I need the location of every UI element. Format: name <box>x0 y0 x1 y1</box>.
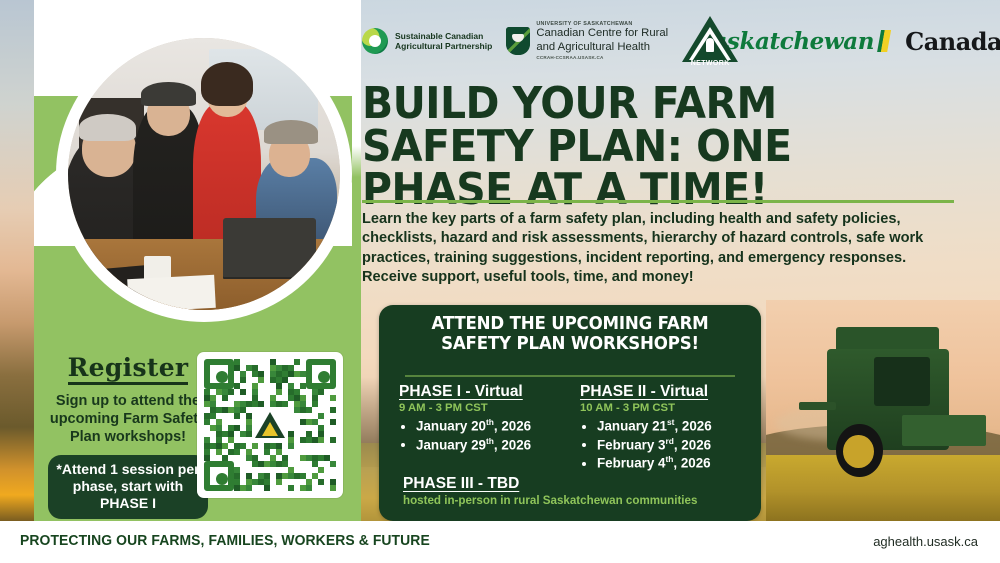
register-subtitle: Sign up to attend the upcoming Farm Safe… <box>48 393 208 446</box>
phase-three-heading: PHASE III - TBD <box>403 475 733 492</box>
phase-column: PHASE II - Virtual10 AM - 3 PM CSTJanuar… <box>580 383 747 472</box>
phase-date: February 3rd, 2026 <box>597 436 747 454</box>
card-divider <box>405 375 735 377</box>
phase-date-list: January 21st, 2026February 3rd, 2026Febr… <box>580 417 747 472</box>
canadian-centre-for-rural-and-agricultural-health-logo: UNIVERSITY OF SASKATCHEWAN Canadian Cent… <box>506 22 668 61</box>
phase-date: January 20th, 2026 <box>416 417 566 435</box>
phase-time: 9 AM - 3 PM CST <box>399 402 566 414</box>
phase-date: January 29th, 2026 <box>416 436 566 454</box>
phase-date: January 21st, 2026 <box>597 417 747 435</box>
left-panel-edge <box>352 0 361 521</box>
left-edge-photo-strip <box>0 0 34 521</box>
person-icon <box>706 38 714 52</box>
phase-columns: PHASE I - Virtual9 AM - 3 PM CSTJanuary … <box>399 383 747 472</box>
farm-group-meeting-photo <box>68 38 340 310</box>
footer-tagline: PROTECTING OUR FARMS, FAMILIES, WORKERS … <box>20 533 430 549</box>
phase-column: PHASE I - Virtual9 AM - 3 PM CSTJanuary … <box>399 383 566 472</box>
leaf-icon <box>362 28 388 54</box>
poster-root: Register Sign up to attend the upcoming … <box>0 0 1000 563</box>
network-label: NETWORK <box>682 60 738 67</box>
title-divider <box>362 200 954 203</box>
register-note: *Attend 1 session per phase, start with … <box>48 455 208 518</box>
government-of-canada-logo: Canada <box>905 27 1000 56</box>
register-block: Register Sign up to attend the upcoming … <box>48 355 208 519</box>
qr-code-modules <box>204 359 336 491</box>
register-heading: Register <box>68 355 189 385</box>
phase-three-block: PHASE III - TBD hosted in-person in rura… <box>403 475 733 507</box>
intro-paragraph: Learn the key parts of a farm safety pla… <box>362 210 950 287</box>
saskatchewan-flag-icon <box>877 30 891 52</box>
logo-row: Sustainable Canadian Agricultural Partne… <box>362 16 992 66</box>
canada-wordmark: Canada <box>905 27 1000 56</box>
workshops-card: ATTEND THE UPCOMING FARM SAFETY PLAN WOR… <box>379 305 761 521</box>
phase-heading: PHASE I - Virtual <box>399 383 566 400</box>
scap-line1: Sustainable Canadian <box>395 31 492 41</box>
qr-code[interactable] <box>197 352 343 498</box>
usask-shield-icon <box>506 27 530 55</box>
page-title: BUILD YOUR FARM SAFETY PLAN: ONE PHASE A… <box>362 82 920 211</box>
footer-website[interactable]: aghealth.usask.ca <box>873 534 978 549</box>
ccrah-line2: and Agricultural Health <box>536 41 668 55</box>
phase-date-list: January 20th, 2026January 29th, 2026 <box>399 417 566 454</box>
ccrah-line1: Canadian Centre for Rural <box>536 27 668 41</box>
scap-line2: Agricultural Partnership <box>395 41 492 51</box>
sustainable-canadian-agricultural-partnership-logo: Sustainable Canadian Agricultural Partne… <box>362 28 492 54</box>
phase-heading: PHASE II - Virtual <box>580 383 747 400</box>
combine-harvester-photo <box>766 300 1000 521</box>
footer-bar: PROTECTING OUR FARMS, FAMILIES, WORKERS … <box>0 521 1000 563</box>
phase-date: February 4th, 2026 <box>597 454 747 472</box>
ccrah-url: CCRAH-CCSRAA.USASK.CA <box>536 55 668 60</box>
workshops-card-title: ATTEND THE UPCOMING FARM SAFETY PLAN WOR… <box>404 315 737 354</box>
phase-time: 10 AM - 3 PM CST <box>580 402 747 414</box>
phase-three-note: hosted in-person in rural Saskatchewan c… <box>403 494 733 507</box>
